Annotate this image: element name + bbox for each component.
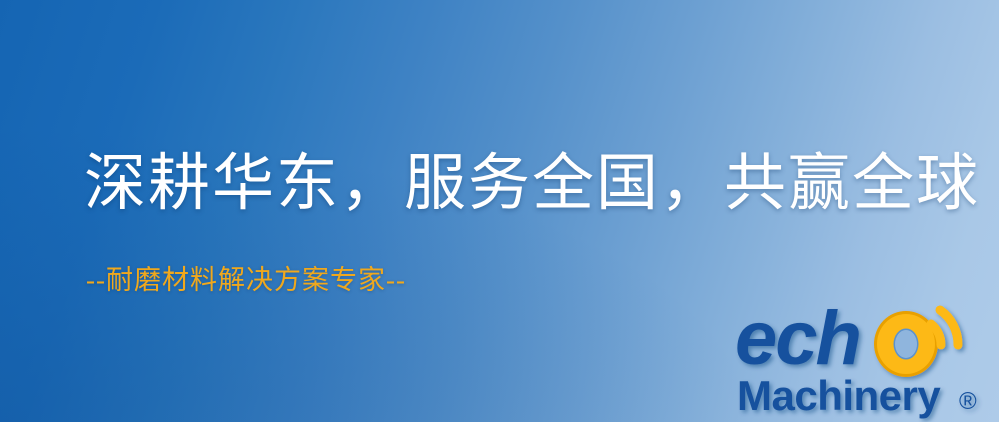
banner-headline: 深耕华东，服务全国，共赢全球 — [84, 152, 980, 218]
banner-subtitle: --耐磨材料解决方案专家-- — [86, 266, 406, 296]
logo-tagline-machinery: Machinery — [737, 372, 941, 419]
echo-machinery-logo: ech Machinery ® — [731, 292, 993, 420]
logo-wordmark-ech: ech — [735, 296, 860, 381]
logo-registered-mark: ® — [959, 388, 977, 415]
promotional-banner: 深耕华东，服务全国，共赢全球 --耐磨材料解决方案专家-- ech — [0, 0, 999, 422]
